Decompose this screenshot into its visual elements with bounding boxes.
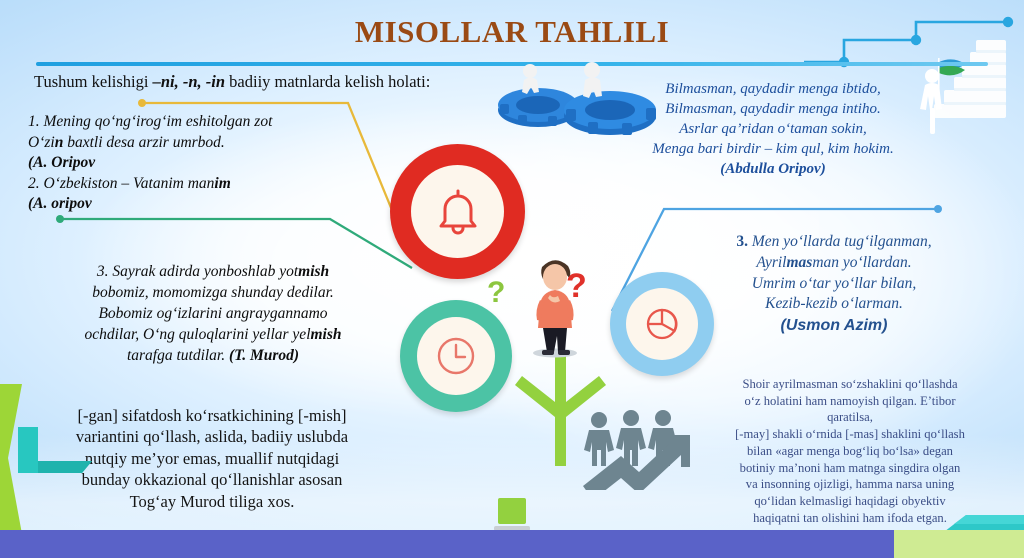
analysis-line: bilan «agar menga bog‘liq bo‘lsa» degan xyxy=(700,443,1000,460)
poem-text: Men yo‘llarda tug‘ilganman, xyxy=(748,233,932,250)
question-mark-red-icon: ? xyxy=(566,267,587,306)
poem-text: Ayril xyxy=(756,254,786,271)
clock-circle-inner xyxy=(417,317,495,395)
page-title: MISOLLAR TAHLILI xyxy=(0,14,1024,50)
source-name: oripov xyxy=(51,195,91,212)
poem-line: Umrim o‘tar yo‘llar bilan, xyxy=(700,274,968,295)
example-line: 1. Mening qo‘ng‘irog‘im eshitolgan zot xyxy=(28,112,368,133)
poem-source: (Abdulla Oripov) xyxy=(608,160,938,180)
poem-line: Bilmasman, qaydadir menga ibtido, xyxy=(608,80,938,100)
lead-after: badiiy matnlarda kelish holati: xyxy=(225,72,430,91)
example-line: tarafga tutdilar. (T. Murod) xyxy=(18,346,408,367)
highlight-suffix: mas xyxy=(786,254,812,271)
poem-text: man yo‘llardan. xyxy=(812,254,911,271)
analysis-line: qaratilsa, xyxy=(700,409,1000,426)
example-line: 2. O‘zbekiston – Vatanim manim xyxy=(28,174,368,195)
example-line: Bobomiz og‘izlarini angraygannamo xyxy=(18,304,408,325)
example-text: 2. O‘zbekiston – Vatanim man xyxy=(28,175,214,192)
pie-chart-icon xyxy=(643,305,681,343)
poem-line: Asrlar qa’ridan o‘taman sokin, xyxy=(608,120,938,140)
poem-line: Kezib-kezib o‘larman. xyxy=(700,294,968,315)
example-line: O‘zin baxtli desa arzir umrbod. xyxy=(28,133,368,154)
highlight-suffix: mish xyxy=(311,326,342,343)
analysis-line: botiniy ma’noni ham matnga singdira olga… xyxy=(700,460,1000,477)
example-block-left-1: 1. Mening qo‘ng‘irog‘im eshitolgan zot O… xyxy=(28,112,368,215)
footer-bar-accent xyxy=(894,530,1024,558)
note-line: Tog‘ay Murod tiliga xos. xyxy=(22,491,402,512)
example-text: ochdilar, O‘ng quloqlarini yellar yel xyxy=(84,326,310,343)
lead-suffixes: –ni, -n, -in xyxy=(153,72,225,91)
analysis-line: Shoir ayrilmasman so‘zshaklini qo‘llashd… xyxy=(700,376,1000,393)
example-source: (A. oripov xyxy=(28,194,368,215)
bell-circle[interactable] xyxy=(390,144,525,279)
example-line: 3. Sayrak adirda yonboshlab yotmish xyxy=(18,262,408,283)
example-text: baxtli desa arzir umrbod. xyxy=(63,134,224,151)
teal-left-arrow-accent xyxy=(0,427,92,481)
bell-icon xyxy=(435,187,481,237)
example-block-left-3: 3. Sayrak adirda yonboshlab yotmish bobo… xyxy=(18,262,408,367)
question-mark-green-icon: ? xyxy=(487,276,505,310)
analysis-paragraph: Shoir ayrilmasman so‘zshaklini qo‘llashd… xyxy=(700,376,1000,527)
clock-circle[interactable] xyxy=(400,300,512,412)
example-line: ochdilar, O‘ng quloqlarini yellar yelmis… xyxy=(18,325,408,346)
note-line: [-gan] sifatdosh ko‘rsatkichining [-mish… xyxy=(22,405,402,426)
analysis-line: o‘z holatini ham namoyish qilgan. E’tibo… xyxy=(700,393,1000,410)
poem-line: Ayrilmasman yo‘llardan. xyxy=(700,253,968,274)
pie-chart-circle-inner xyxy=(626,288,698,360)
lead-sentence: Tushum kelishigi –ni, -n, -in badiiy mat… xyxy=(34,72,554,93)
bell-circle-inner xyxy=(411,165,504,258)
poem-line: Bilmasman, qaydadir menga intiho. xyxy=(608,100,938,120)
people-growth-arrow-icon xyxy=(575,408,730,490)
footer-bar-primary xyxy=(0,530,1010,558)
lead-before: Tushum kelishigi xyxy=(34,72,153,91)
example-text: O‘zi xyxy=(28,134,55,151)
example-text: tarafga tutdilar. xyxy=(127,347,229,364)
example-source: (A. Oripov xyxy=(28,153,368,174)
example-line: bobomiz, momomizga shunday dedilar. xyxy=(18,283,408,304)
clock-icon xyxy=(435,335,477,377)
poem-number: 3. xyxy=(736,233,748,250)
poem-line: Menga bari birdir – kim qul, kim hokim. xyxy=(608,140,938,160)
analysis-line: qo‘lidan kelmasligi haqidagi obyektiv xyxy=(700,493,1000,510)
poem-block-right-1: Bilmasman, qaydadir menga ibtido, Bilmas… xyxy=(608,80,938,180)
poem-line: 3. Men yo‘llarda tug‘ilganman, xyxy=(700,232,968,253)
source-prefix: (A. xyxy=(28,195,51,212)
poem-block-right-3: 3. Men yo‘llarda tug‘ilganman, Ayrilmasm… xyxy=(700,232,968,337)
example-text: 3. Sayrak adirda yonboshlab yot xyxy=(97,263,298,280)
pie-chart-circle[interactable] xyxy=(610,272,714,376)
analysis-line: va insonning ojizligi, hamma narsa uning xyxy=(700,476,1000,493)
analysis-line: [-may] shakli o‘rnida [-mas] shaklini qo… xyxy=(700,426,1000,443)
highlight-suffix: im xyxy=(214,175,230,192)
poem-source: (Usmon Azim) xyxy=(700,315,968,336)
laptop-icon xyxy=(492,498,532,534)
example-source: (T. Murod) xyxy=(229,347,299,364)
highlight-suffix: mish xyxy=(298,263,329,280)
slide-root: MISOLLAR TAHLILI xyxy=(0,0,1024,558)
